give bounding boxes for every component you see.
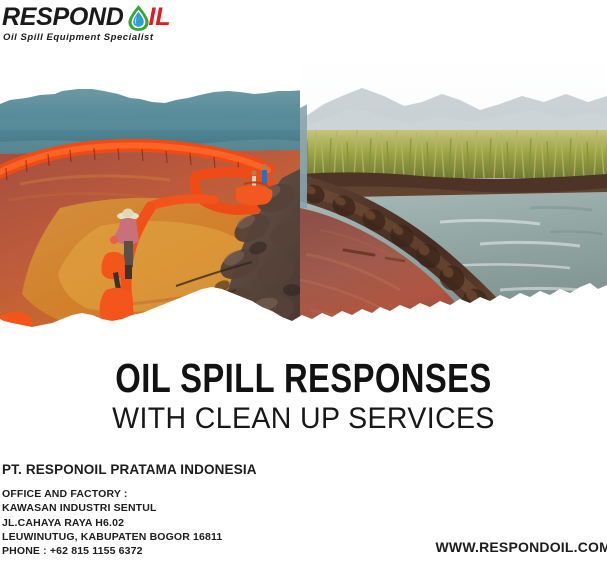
photo-collage <box>0 58 607 333</box>
address-line: LEUWINUTUG, KABUPATEN BOGOR 16811 <box>2 530 342 544</box>
phone-line[interactable]: PHONE : +62 815 1155 6372 <box>2 544 342 558</box>
brand-logo[interactable]: RESPOND IL Oil Spill Equipment Specialis… <box>2 2 232 48</box>
company-name: PT. RESPONOIL PRATAMA INDONESIA <box>2 462 342 478</box>
photo-oiled-boom-wetland-reeds <box>300 58 607 333</box>
page-subtitle: WITH CLEAN UP SERVICES <box>15 402 592 435</box>
logo-text-il: IL <box>149 5 171 30</box>
contact-block: PT. RESPONOIL PRATAMA INDONESIA OFFICE A… <box>2 462 342 558</box>
page-title: OIL SPILL RESPONSES <box>61 358 547 400</box>
headline-block: OIL SPILL RESPONSES WITH CLEAN UP SERVIC… <box>0 358 607 435</box>
address-line: KAWASAN INDUSTRI SENTUL <box>2 501 342 515</box>
logo-wordmark: RESPOND IL <box>2 2 170 32</box>
water-droplet-icon <box>127 4 150 32</box>
address-line: OFFICE AND FACTORY : <box>2 487 342 501</box>
photo-oil-spill-containment-boom-shoreline <box>0 58 306 333</box>
website-url[interactable]: WWW.RESPONDOIL.COM <box>436 539 607 555</box>
logo-text-respond: RESPOND <box>2 5 124 30</box>
logo-tagline: Oil Spill Equipment Specialist <box>3 32 154 43</box>
address-lines: OFFICE AND FACTORY : KAWASAN INDUSTRI SE… <box>2 487 342 558</box>
address-line: JL.CAHAYA RAYA H6.02 <box>2 516 342 530</box>
